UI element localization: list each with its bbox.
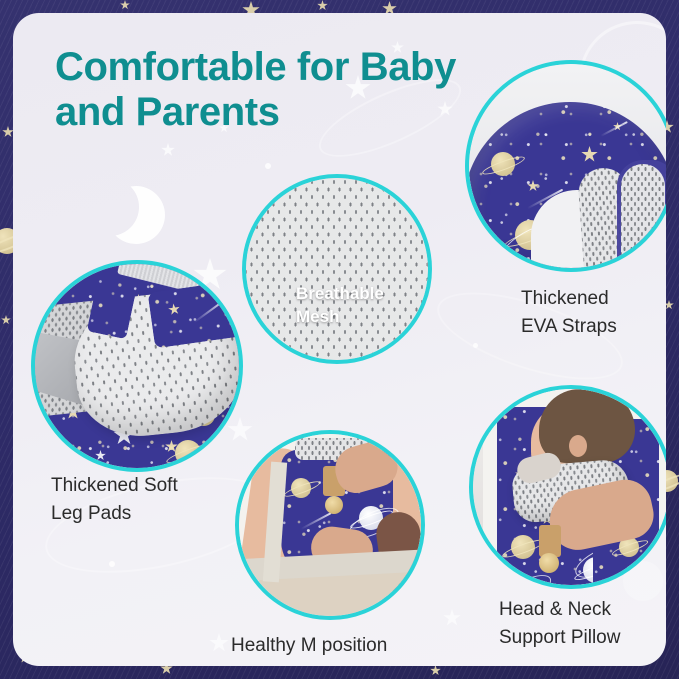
carrier-logo-badge [539, 553, 559, 573]
watermark-dot [473, 343, 478, 348]
feature-circle-eva-straps [465, 60, 666, 272]
border-star-icon [317, 0, 328, 11]
watermark-dot [109, 561, 115, 567]
baby-ear [569, 435, 587, 457]
leg-pads-image [35, 264, 239, 468]
feature-circle-m-position [235, 430, 425, 620]
carrier-logo-badge [325, 496, 343, 514]
border-star-icon [120, 0, 130, 10]
eva-straps-image [469, 64, 666, 268]
page-title: Comfortable for Baby and Parents [55, 45, 525, 135]
baby-hair [539, 389, 635, 463]
caption-eva-straps: Thickened EVA Straps [521, 285, 617, 340]
m-position-image [239, 434, 421, 616]
watermark-dot [265, 163, 271, 169]
feature-circle-head-neck-pillow [469, 385, 666, 589]
watermark-star-icon [443, 609, 461, 627]
watermark-moon-icon [81, 178, 139, 236]
head-neck-pillow-image [473, 389, 666, 585]
caption-m-position: Healthy M position [231, 632, 387, 660]
watermark-star-icon [161, 143, 175, 157]
product-infographic: Comfortable for Baby and Parents Breatha… [0, 0, 679, 679]
mesh-texture [246, 178, 428, 360]
breathable-mesh-overlay-label: Breathable Mesh [296, 283, 384, 329]
feature-circle-breathable-mesh: Breathable Mesh [242, 174, 432, 364]
border-star-icon [430, 665, 441, 676]
watermark-star-icon [209, 633, 229, 653]
feature-circle-leg-pads [31, 260, 243, 472]
breathable-mesh-image [246, 178, 428, 360]
border-star-icon [1, 315, 11, 325]
content-panel: Comfortable for Baby and Parents Breatha… [13, 13, 666, 666]
caption-head-neck-pillow: Head & Neck Support Pillow [499, 596, 620, 651]
caption-leg-pads: Thickened Soft Leg Pads [51, 472, 178, 527]
leg-pad-strap-lower [148, 280, 239, 349]
